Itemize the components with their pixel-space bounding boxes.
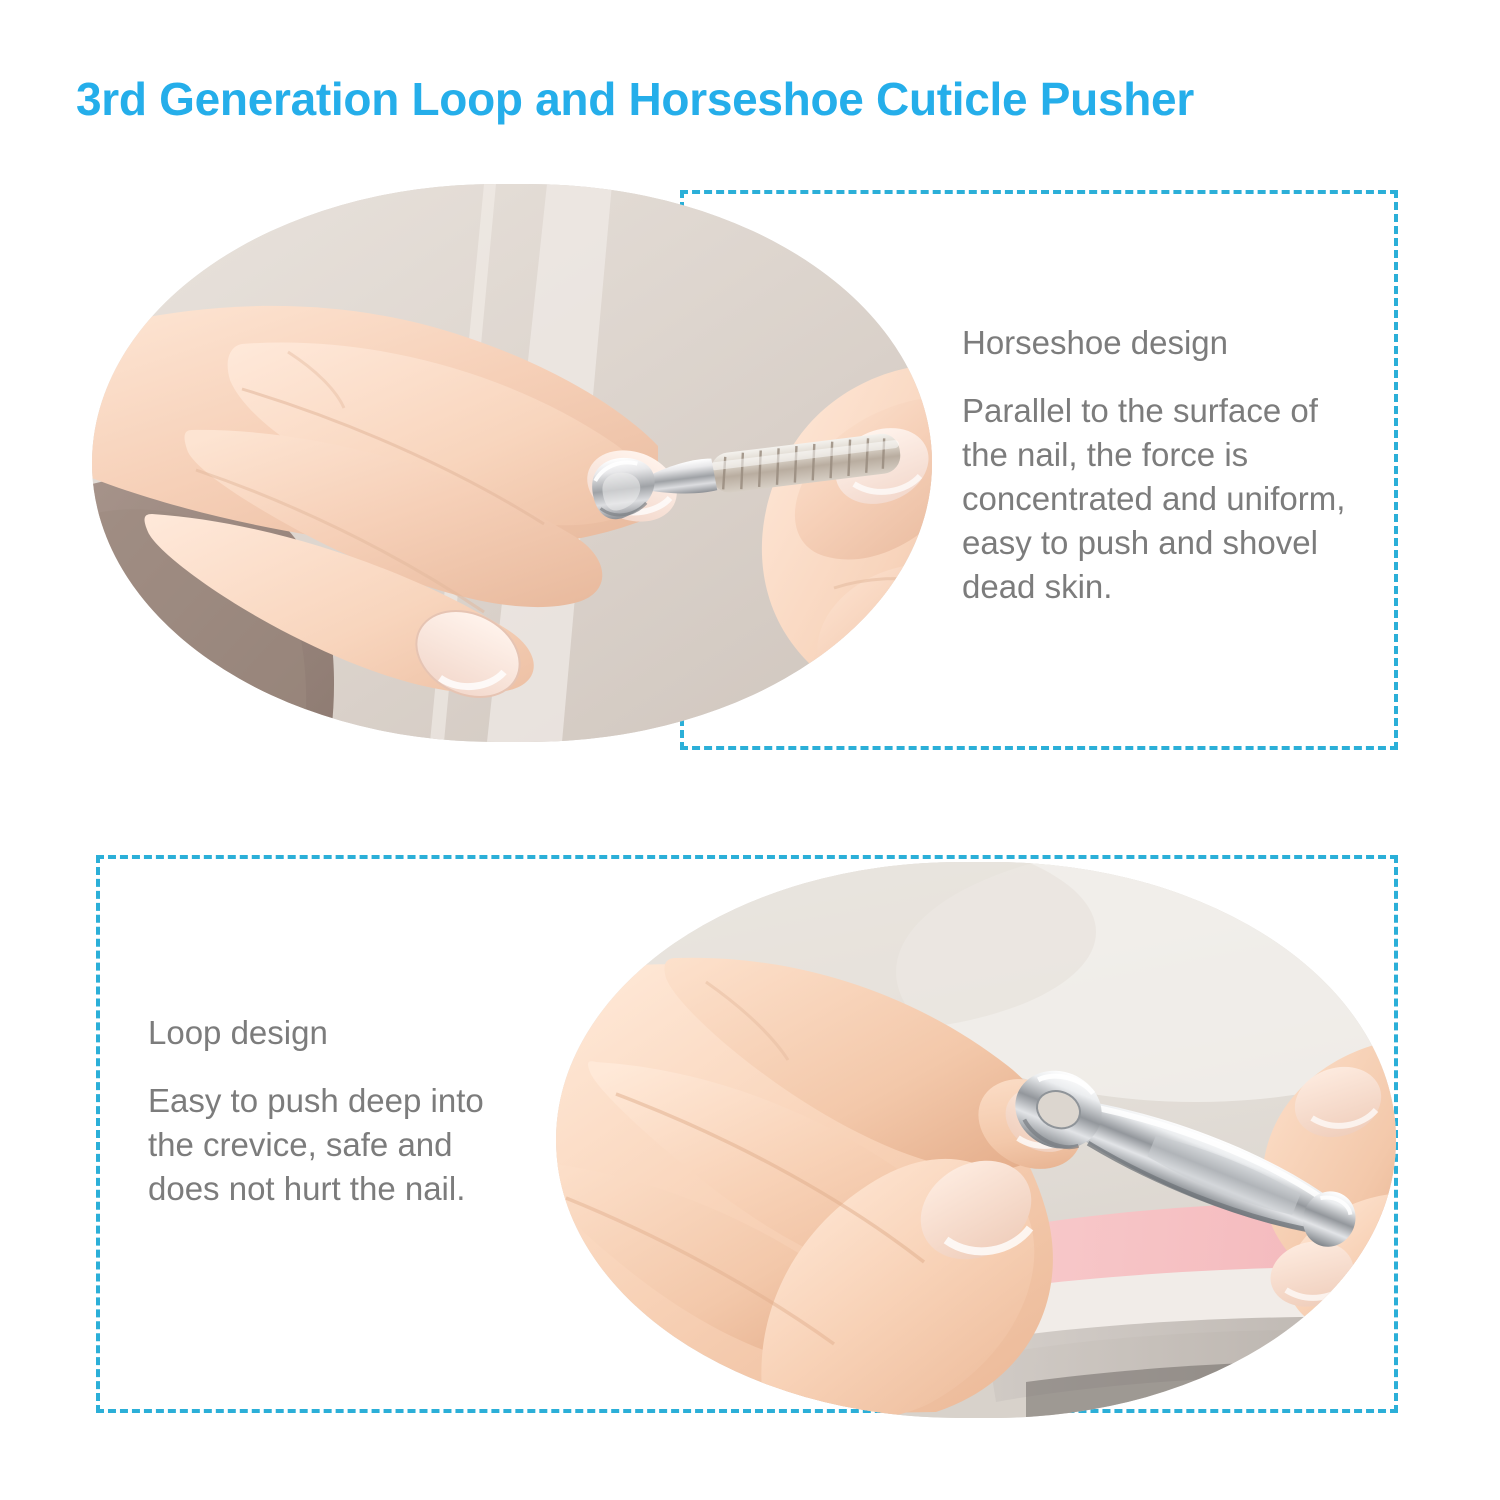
loop-body: Easy to push deep into the crevice, safe… [148,1079,528,1211]
horseshoe-heading: Horseshoe design [962,322,1362,363]
horseshoe-body: Parallel to the surface of the nail, the… [962,389,1362,608]
loop-heading: Loop design [148,1012,528,1053]
infographic-page: 3rd Generation Loop and Horseshoe Cuticl… [0,0,1500,1500]
horseshoe-photo-illustration [92,184,932,742]
loop-text-block: Loop design Easy to push deep into the c… [148,1012,528,1211]
page-title: 3rd Generation Loop and Horseshoe Cuticl… [76,74,1456,125]
loop-photo-illustration [556,862,1396,1418]
horseshoe-text-block: Horseshoe design Parallel to the surface… [962,322,1362,609]
loop-photo [556,862,1396,1418]
horseshoe-photo [92,184,932,742]
